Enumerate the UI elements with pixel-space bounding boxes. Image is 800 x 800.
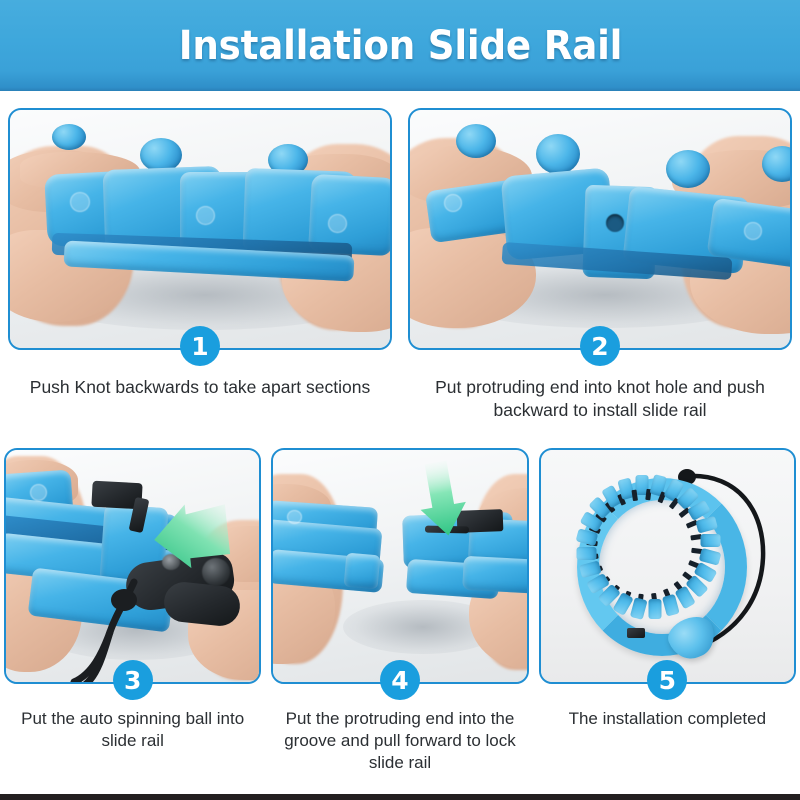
- step-panel-4: 4 Put the protruding end into the groove…: [271, 448, 528, 796]
- step-badge-4: 4: [380, 660, 420, 700]
- step-panel-5: 5 The installation completed: [539, 448, 796, 796]
- step-badge-3: 3: [113, 660, 153, 700]
- step-5-photo: [539, 448, 796, 684]
- page-title: Installation Slide Rail: [178, 26, 622, 66]
- step-5-scene: [541, 450, 794, 682]
- hoop-segment: [576, 547, 596, 560]
- steps-row-top: 1 Push Knot backwards to take apart sect…: [0, 108, 800, 448]
- steps-row-bottom: 3 Put the auto spinning ball into slide …: [0, 448, 800, 796]
- step-panel-3: 3 Put the auto spinning ball into slide …: [4, 448, 261, 796]
- step-caption-5: The installation completed: [539, 708, 796, 730]
- arrow-left-green: [148, 500, 234, 570]
- hoop-segment: [700, 534, 720, 547]
- step-2-scene: [410, 110, 790, 348]
- step-badge-2: 2: [580, 326, 620, 366]
- step-panel-2: 2 Put protruding end into knot hole and …: [408, 108, 792, 448]
- step-2-photo: [408, 108, 792, 350]
- step-4-photo: [271, 448, 528, 684]
- hoop-segment: [648, 599, 661, 619]
- step-3-scene: [6, 450, 259, 682]
- header-banner: Installation Slide Rail: [0, 0, 800, 91]
- step-caption-2: Put protruding end into knot hole and pu…: [408, 376, 792, 422]
- step-1-scene: [10, 110, 390, 348]
- step-badge-5: 5: [647, 660, 687, 700]
- step-1-photo: [8, 108, 392, 350]
- step-3-photo: [4, 448, 261, 684]
- step-caption-1: Push Knot backwards to take apart sectio…: [8, 376, 392, 399]
- bottom-rule: [0, 794, 800, 800]
- arrow-down-green: [401, 456, 475, 542]
- installation-instructions-page: Installation Slide Rail: [0, 0, 800, 800]
- step-4-scene: [273, 450, 526, 682]
- step-caption-4: Put the protruding end into the groove a…: [271, 708, 528, 774]
- step-badge-1: 1: [180, 326, 220, 366]
- hoop-tick: [631, 490, 637, 502]
- step-panel-1: 1 Push Knot backwards to take apart sect…: [8, 108, 392, 448]
- step-caption-3: Put the auto spinning ball into slide ra…: [4, 708, 261, 752]
